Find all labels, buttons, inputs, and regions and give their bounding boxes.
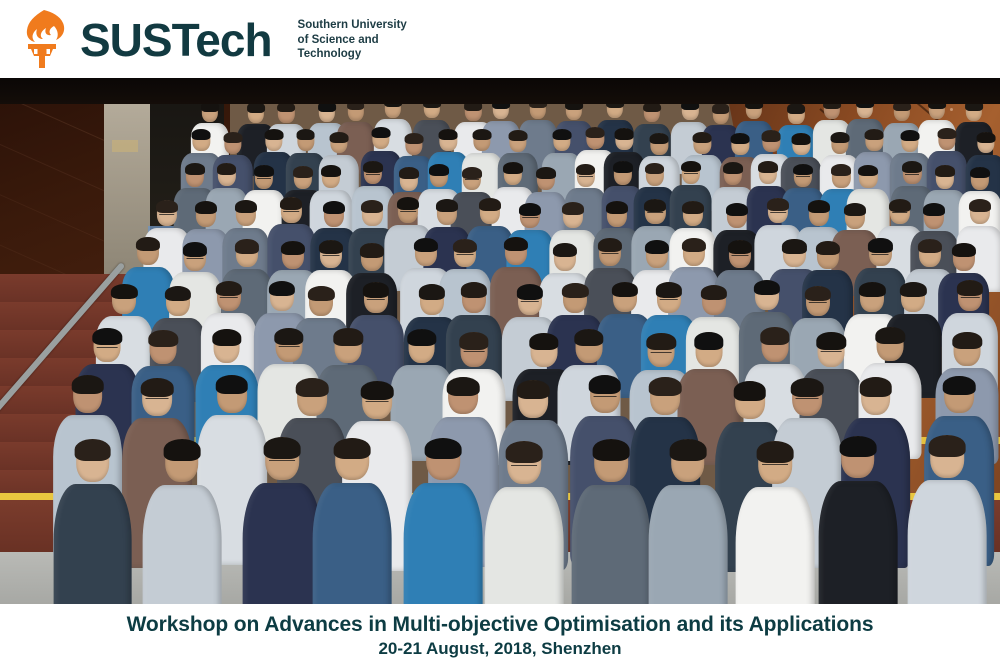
photo-person [247,437,317,604]
sustech-torch-icon [14,8,70,70]
caption-subtitle: 20-21 August, 2018, Shenzhen [0,638,1000,660]
university-tagline: Southern University of Science and Techn… [298,18,407,62]
photo-person [58,439,128,604]
sustech-logo-lockup[interactable]: SUSTech Southern University of Science a… [14,8,407,70]
caption-title: Workshop on Advances in Multi-objective … [0,612,1000,638]
photo-person [317,438,387,604]
photo-ceiling-overhang [0,78,1000,104]
tagline-line-1: Southern University [298,18,407,33]
wordmark-sus: SUS [80,14,172,66]
photo-person [912,435,982,604]
wordmark-ech: ech [195,14,271,66]
photo-person [653,439,723,604]
photo-caption: Workshop on Advances in Multi-objective … [0,604,1000,667]
sustech-wordmark: SUSTech [80,17,272,63]
photo-person [489,441,559,604]
photo-person [408,438,478,604]
photo-person [740,441,810,604]
photo-person [823,436,893,604]
workshop-group-photo [0,78,1000,604]
photo-person [576,439,646,604]
photo-crowd [0,78,1000,604]
page-header: SUSTech Southern University of Science a… [0,0,1000,78]
photo-person [147,439,217,604]
tagline-line-3: Technology [298,47,407,62]
tagline-line-2: of Science and [298,33,407,48]
wordmark-t: T [172,14,196,66]
